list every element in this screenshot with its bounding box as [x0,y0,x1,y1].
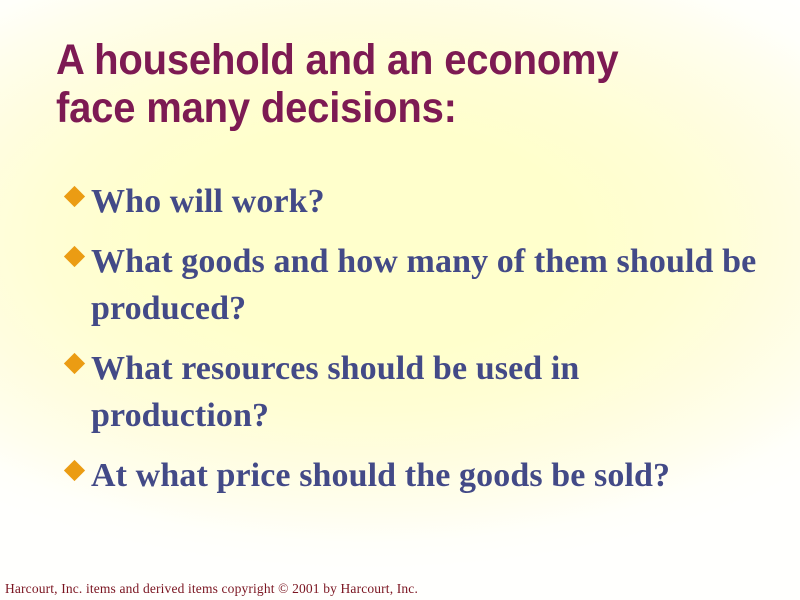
page-title-line-1: A household and an economy [56,36,698,84]
list-item-label: Who will work? [91,178,764,225]
bullet-list: Who will work? What goods and how many o… [64,178,764,512]
list-item: At what price should the goods be sold? [64,452,764,499]
diamond-bullet-icon [64,178,91,204]
page-title: A household and an economy face many dec… [56,36,746,132]
diamond-bullet-icon [64,452,91,478]
list-item-label: At what price should the goods be sold? [91,452,764,499]
list-item: Who will work? [64,178,764,225]
page-title-line-2: face many decisions: [56,84,698,132]
diamond-bullet-icon [64,238,91,264]
list-item: What goods and how many of them should b… [64,238,764,332]
diamond-bullet-icon [64,345,91,371]
list-item-label: What resources should be used in product… [91,345,764,439]
slide-canvas: A household and an economy face many dec… [0,0,800,600]
slide-content: A household and an economy face many dec… [0,0,800,600]
copyright-footer: Harcourt, Inc. items and derived items c… [5,581,418,597]
list-item: What resources should be used in product… [64,345,764,439]
list-item-label: What goods and how many of them should b… [91,238,764,332]
